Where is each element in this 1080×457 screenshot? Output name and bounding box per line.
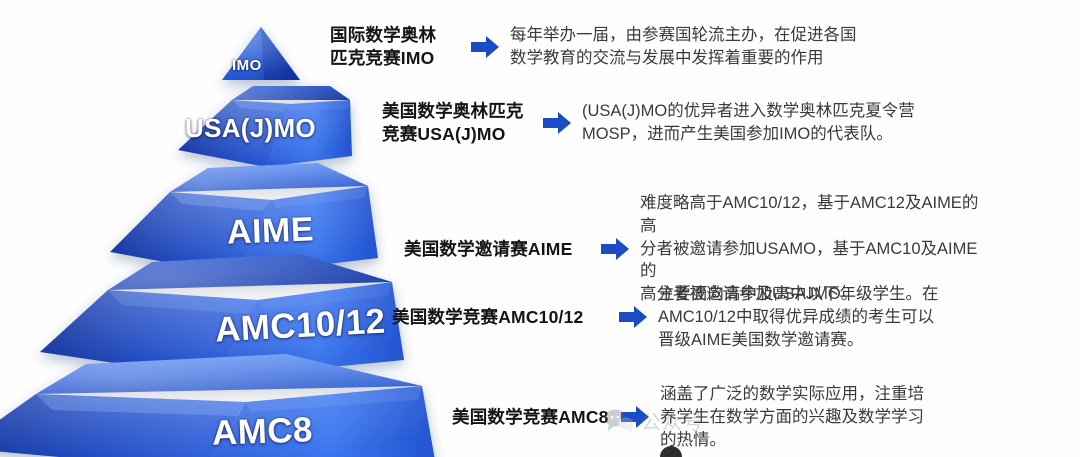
row-desc-amc8: 涵盖了广泛的数学实际应用，注重培 养学生在数学方面的兴趣及数学学习 的热情。 [660,383,1008,451]
right-arrow-icon [600,236,630,262]
info-row-amc1012: 美国数学竞赛AMC10/12 主要面向高中及高中以下年级学生。在 AMC10/1… [392,283,1006,351]
row-desc-amc1012: 主要面向高中及高中以下年级学生。在 AMC10/12中取得优异成绩的考生可以 晋… [658,283,1006,351]
pyramid-tier-imo [222,27,300,80]
row-desc-imo: 每年举办一届，由参赛国轮流主办，在促进各国 数学教育的交流与发展中发挥着重要的作… [510,24,950,70]
row-desc-usajmo: (USA(J)MO的优异者进入数学奥林匹克夏令营 MOSP，进而产生美国参加IM… [582,100,1002,146]
right-arrow-icon [620,404,650,430]
info-row-amc8: 美国数学竞赛AMC8 涵盖了广泛的数学实际应用，注重培 养学生在数学方面的兴趣及… [452,383,1008,451]
pyramid-tier-amc8 [0,354,436,457]
info-row-imo: 国际数学奥林 匹克竞赛IMO 每年举办一届，由参赛国轮流主办，在促进各国 数学教… [330,24,950,70]
infographic-canvas: IMO USA(J)MO AIME AMC10/12 AMC8 国际数学奥林 匹… [0,0,1080,457]
info-row-usajmo: 美国数学奥林匹克 竞赛USA(J)MO (USA(J)MO的优异者进入数学奥林匹… [382,100,1002,146]
row-label-usajmo: 美国数学奥林匹克 竞赛USA(J)MO [382,100,532,145]
row-label-amc8: 美国数学竞赛AMC8 [452,406,610,428]
right-arrow-icon [470,34,500,60]
pyramid-tier-usajmo [178,86,352,167]
right-arrow-icon [618,304,648,330]
row-label-imo: 国际数学奥林 匹克竞赛IMO [330,24,460,69]
right-arrow-icon [542,110,572,136]
row-label-aime: 美国数学邀请赛AIME [404,238,590,260]
row-label-amc1012: 美国数学竞赛AMC10/12 [392,306,608,328]
